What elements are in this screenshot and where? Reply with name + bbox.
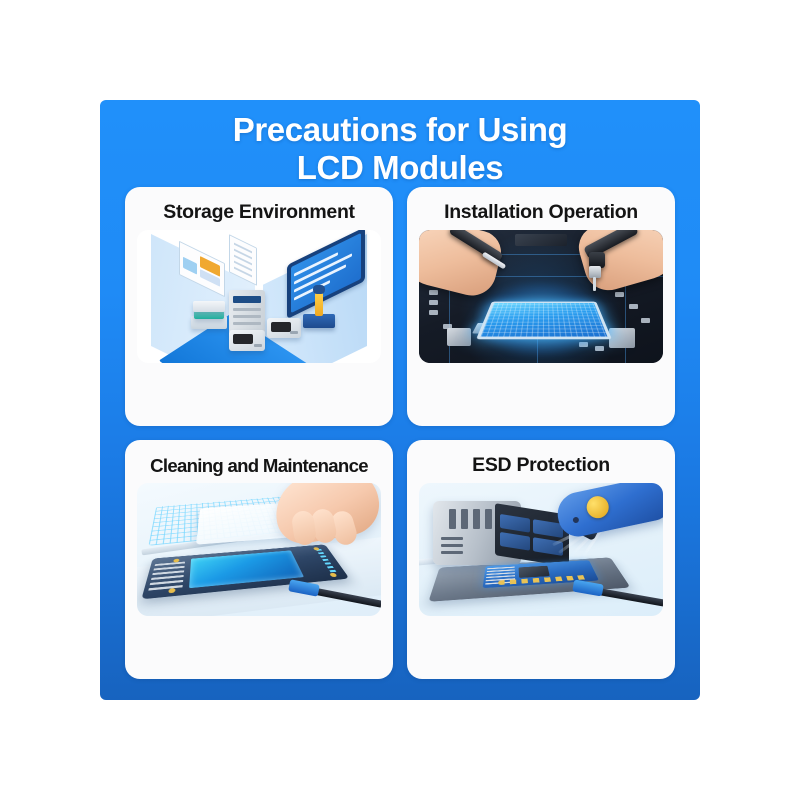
card-title-installation-operation: Installation Operation bbox=[444, 201, 638, 224]
lcd-module-icon bbox=[476, 302, 612, 340]
page-title-line-1: Precautions for Using bbox=[100, 111, 700, 149]
blue-panel: Precautions for Using LCD Modules Storag… bbox=[100, 100, 700, 700]
card-grid: Storage Environment bbox=[125, 187, 675, 679]
isometric-room-illustration bbox=[137, 230, 381, 363]
server-tower-icon bbox=[229, 290, 265, 334]
driver-needle-icon bbox=[593, 277, 596, 291]
card-title-storage-environment: Storage Environment bbox=[163, 201, 355, 224]
illustration-esd-protection bbox=[419, 483, 663, 616]
page-title: Precautions for Using LCD Modules bbox=[100, 111, 700, 187]
esd-protection-illustration bbox=[419, 483, 663, 616]
pcb-installation-illustration bbox=[419, 230, 663, 363]
pedestal-icon bbox=[303, 314, 335, 328]
equipment-unit-back-icon bbox=[267, 318, 301, 338]
page-title-line-2: LCD Modules bbox=[100, 149, 700, 187]
illustration-storage-environment bbox=[137, 230, 381, 363]
equipment-unit-front-icon bbox=[229, 330, 265, 351]
poster-root: Precautions for Using LCD Modules Storag… bbox=[0, 0, 800, 800]
cleaning-illustration bbox=[137, 483, 381, 616]
gun-trigger-button-icon bbox=[585, 494, 611, 520]
card-esd-protection[interactable]: ESD Protection bbox=[407, 440, 675, 679]
esd-ionizer-gun-icon bbox=[554, 483, 663, 540]
card-title-cleaning-and-maintenance: Cleaning and Maintenance bbox=[150, 454, 368, 477]
card-installation-operation[interactable]: Installation Operation bbox=[407, 187, 675, 426]
card-storage-environment[interactable]: Storage Environment bbox=[125, 187, 393, 426]
indicator-knob-icon bbox=[313, 285, 325, 294]
card-title-esd-protection: ESD Protection bbox=[472, 454, 610, 477]
illustration-installation-operation bbox=[419, 230, 663, 363]
card-cleaning-and-maintenance[interactable]: Cleaning and Maintenance bbox=[125, 440, 393, 679]
stacked-box-top-icon bbox=[193, 301, 225, 312]
illustration-cleaning-and-maintenance bbox=[137, 483, 381, 616]
